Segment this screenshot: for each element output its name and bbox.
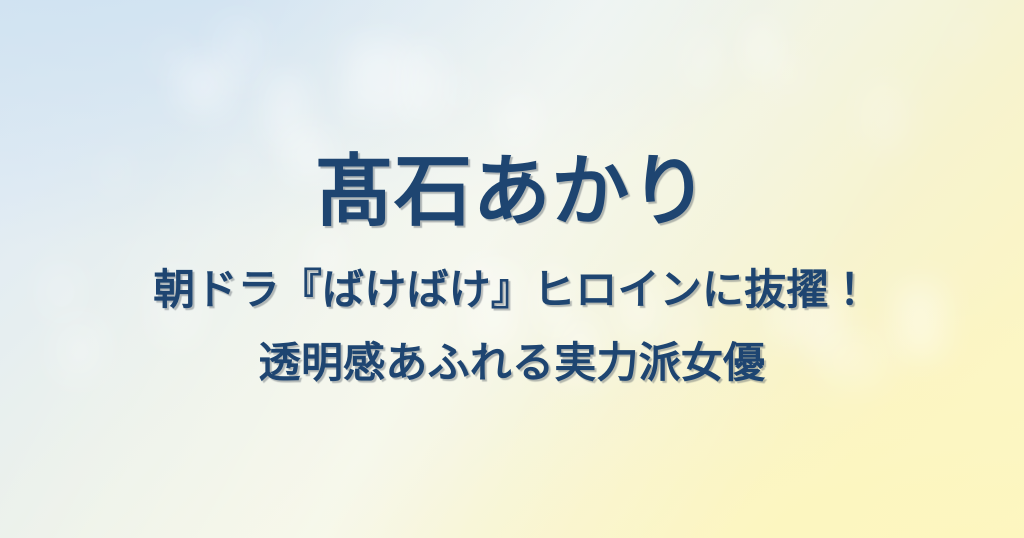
subtitle-line-2: 透明感あふれる実力派女優 xyxy=(259,339,766,386)
subtitle-line-1: 朝ドラ『ばけばけ』ヒロインに抜擢！ xyxy=(153,266,871,313)
text-block: 髙石あかり 朝ドラ『ばけばけ』ヒロインに抜擢！ 透明感あふれる実力派女優 xyxy=(0,0,1024,538)
page-title: 髙石あかり xyxy=(315,152,709,232)
title-card: 髙石あかり 朝ドラ『ばけばけ』ヒロインに抜擢！ 透明感あふれる実力派女優 xyxy=(0,0,1024,538)
